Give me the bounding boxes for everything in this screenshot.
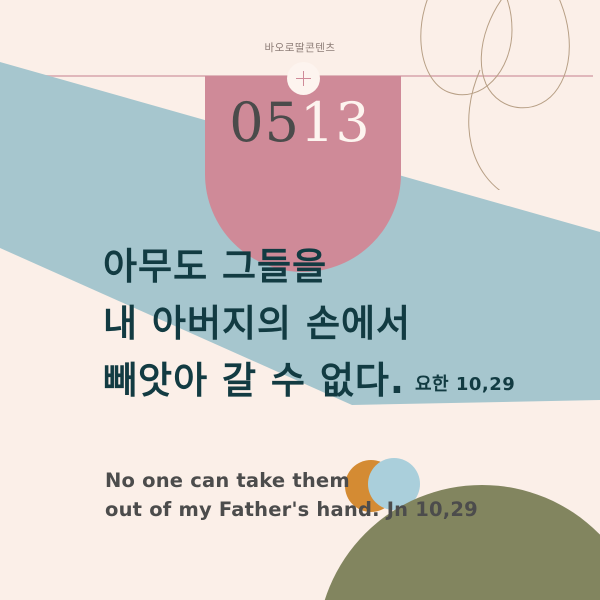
- korean-verse-line-3: 빼앗아 갈 수 없다.요한 10,29: [103, 352, 583, 413]
- decorative-curl-lines: [420, 0, 600, 190]
- english-verse-line-2: out of my Father's hand. Jn 10,29: [105, 495, 565, 524]
- english-verse: No one can take them out of my Father's …: [105, 466, 565, 524]
- brand-label: 바오로딸콘텐츠: [0, 40, 600, 55]
- korean-verse-reference: 요한 10,29: [415, 374, 515, 395]
- korean-verse-line-2: 내 아버지의 손에서: [103, 295, 583, 352]
- korean-verse: 아무도 그들을 내 아버지의 손에서 빼앗아 갈 수 없다.요한 10,29: [103, 238, 583, 413]
- korean-verse-line-1: 아무도 그들을: [103, 238, 583, 295]
- date-number-suffix: 13: [300, 91, 371, 154]
- date-number-prefix: 05: [229, 91, 300, 154]
- english-verse-line-1: No one can take them: [105, 466, 565, 495]
- date-number: 0513: [0, 96, 600, 150]
- korean-verse-line-3-text: 빼앗아 갈 수 없다.: [103, 359, 405, 402]
- scripture-card: 바오로딸콘텐츠 0513 아무도 그들을 내 아버지의 손에서 빼앗아 갈 수 …: [0, 0, 600, 600]
